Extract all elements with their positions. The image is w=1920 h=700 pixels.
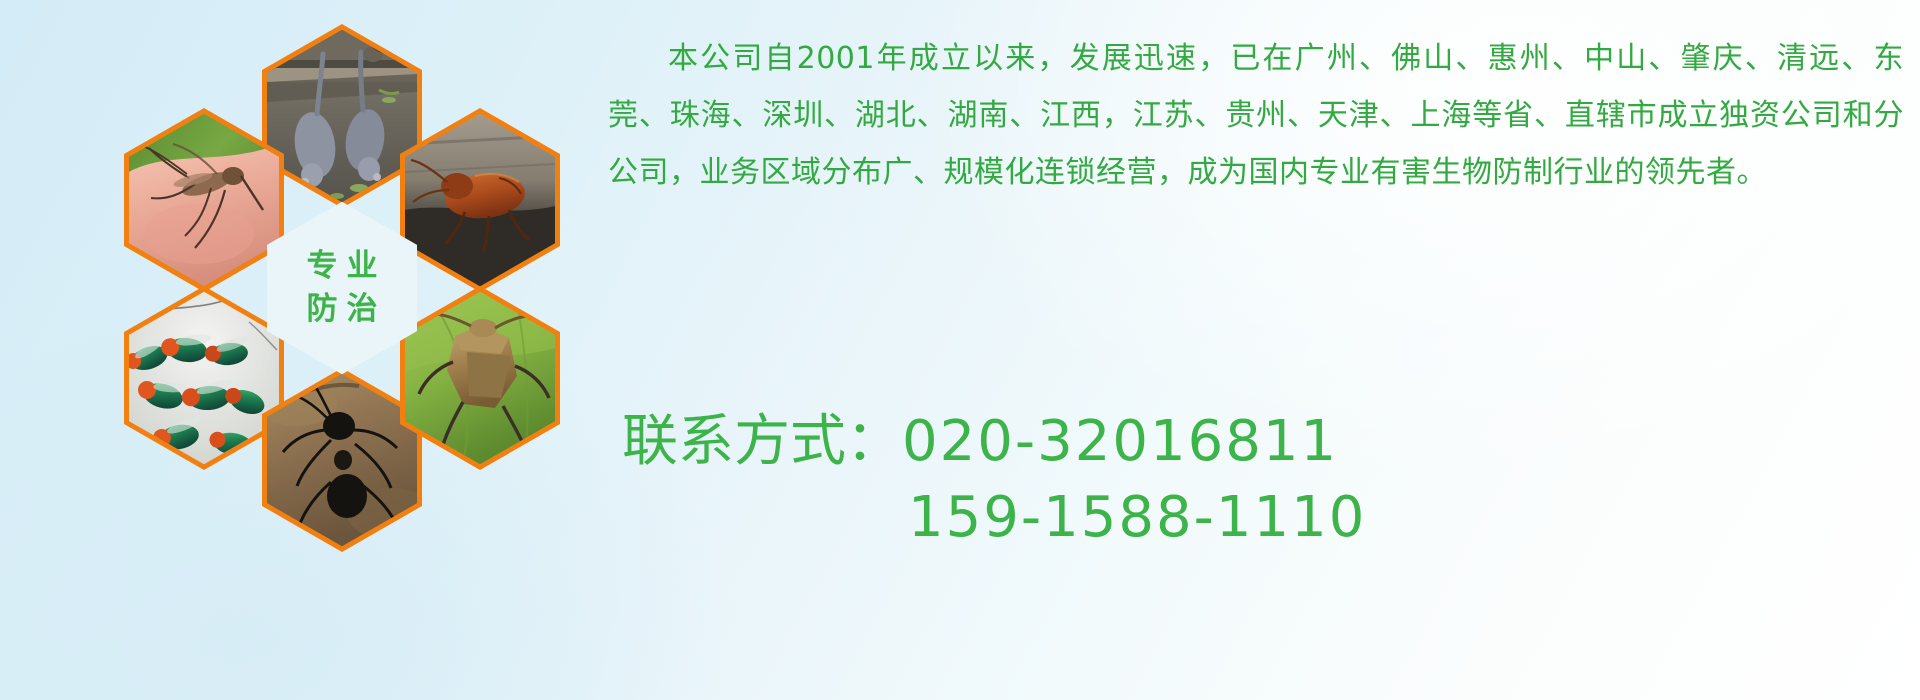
contact-label: 联系方式：: [622, 409, 902, 474]
honeycomb-collage: 专业 防治: [92, 8, 592, 553]
hex-image-clip: [405, 292, 555, 465]
slogan-block: 专业 防治: [267, 202, 417, 375]
contact-primary-line: 联系方式：020-32016811: [622, 404, 1912, 480]
hex-image-clip: [405, 114, 555, 287]
flies-photo: [129, 292, 279, 465]
intro-paragraph: 本公司自2001年成立以来，发展迅速，已在广州、佛山、惠州、中山、肇庆、清远、东…: [608, 30, 1904, 201]
ant-photo: [267, 374, 417, 547]
slogan-line-1: 专业: [298, 251, 387, 282]
cockroach-photo: [405, 114, 555, 287]
contact-block: 联系方式：020-32016811 159-1588-1110: [622, 404, 1912, 556]
hex-cell-rats: [262, 24, 422, 208]
contact-secondary-line: 159-1588-1110: [622, 480, 1912, 556]
hex-image-clip: [129, 292, 279, 465]
hex-cell-cockroach: [400, 108, 560, 292]
stinkbug-photo: [405, 292, 555, 465]
hex-image-clip: [267, 30, 417, 203]
hex-cell-flies: [124, 286, 284, 470]
promo-banner: 专业 防治 本公司自2001年成立以来，发展迅速，已在广州、佛山、惠州、中山、肇…: [0, 0, 1920, 700]
hex-cell-mosquito: [124, 108, 284, 292]
phone-secondary[interactable]: 159-1588-1110: [908, 485, 1366, 550]
hex-cell-ant: [262, 368, 422, 552]
hex-cell-slogan: 专业 防治: [262, 196, 422, 380]
hex-image-clip: [129, 114, 279, 287]
phone-primary[interactable]: 020-32016811: [902, 409, 1338, 474]
hex-cell-stinkbug: [400, 286, 560, 470]
rats-photo: [267, 30, 417, 203]
hex-slogan-clip: 专业 防治: [267, 202, 417, 375]
intro-block: 本公司自2001年成立以来，发展迅速，已在广州、佛山、惠州、中山、肇庆、清远、东…: [608, 30, 1908, 201]
hex-image-clip: [267, 374, 417, 547]
slogan-line-2: 防治: [298, 294, 387, 325]
mosquito-photo: [129, 114, 279, 287]
